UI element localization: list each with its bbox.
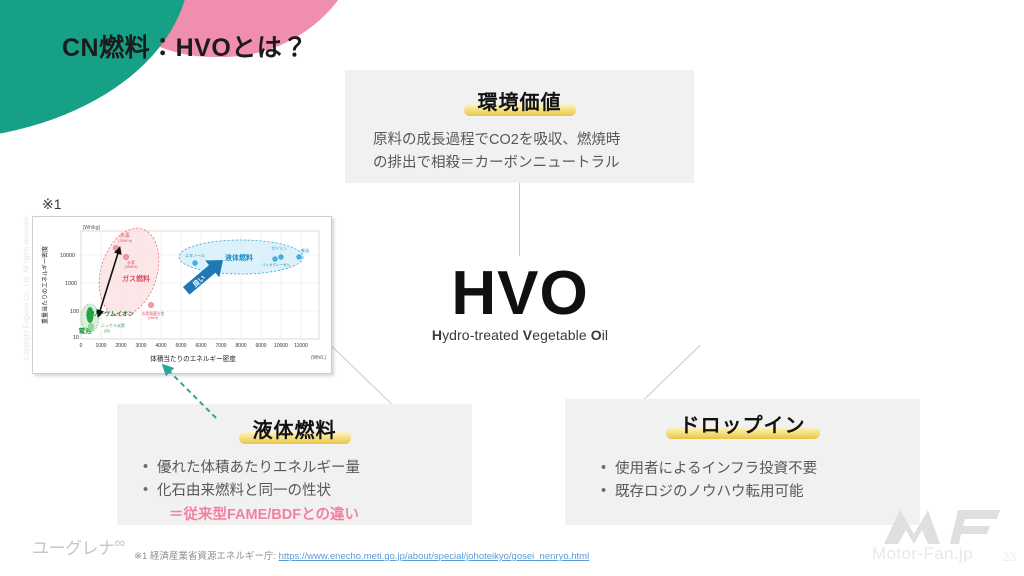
card-env-heading: 環境価値	[472, 86, 568, 117]
hvo-expansion-il: il	[602, 327, 608, 343]
figure-note-label: ※1	[42, 196, 62, 213]
svg-text:1000: 1000	[95, 343, 106, 349]
card-liquid-heading-wrap: 液体燃料	[117, 414, 472, 445]
svg-text:(35MPa): (35MPa)	[124, 265, 137, 269]
svg-text:7000: 7000	[215, 343, 226, 349]
page-number: 23	[1003, 550, 1016, 564]
hvo-expansion-v: V	[523, 327, 532, 343]
card-dropin-heading-text: ドロップイン	[680, 415, 806, 437]
svg-text:エタノール: エタノール	[185, 252, 205, 258]
card-env-heading-text: 環境価値	[478, 92, 562, 114]
svg-text:液体燃料: 液体燃料	[225, 253, 253, 262]
card-environmental-value: 環境価値 原料の成長過程でCO2を吸収、燃焼時 の排出で相殺＝カーボンニュートラ…	[345, 70, 694, 183]
card-liquid-accent-note: ＝従来型FAME/BDFとの違い	[141, 504, 460, 527]
euglena-logo: ユーグレナ∞	[32, 534, 125, 559]
svg-text:重量当たりのエネルギー密度: 重量当たりのエネルギー密度	[41, 246, 49, 324]
card-dropin-bullet-list: 使用者によるインフラ投資不要 既存ロジのノウハウ転用可能	[599, 458, 908, 505]
svg-text:バイオディーゼル: バイオディーゼル	[262, 262, 291, 267]
svg-text:体積当たりのエネルギー密度: 体積当たりのエネルギー密度	[150, 354, 236, 363]
card-env-heading-wrap: 環境価値	[345, 86, 694, 117]
svg-text:5000: 5000	[175, 343, 186, 349]
svg-text:(Wh/L): (Wh/L)	[311, 355, 326, 361]
connector-line-top	[519, 183, 520, 256]
card-env-body-line: 原料の成長過程でCO2を吸収、燃焼時	[373, 129, 676, 152]
list-item: 化石由来燃料と同一の性状	[141, 480, 460, 503]
hvo-expansion-egetable: egetable	[532, 327, 591, 343]
chart-svg: [Wh/kg] 10000 1000 100 10 重量当たりのエネルギー密度 …	[33, 217, 332, 374]
card-dropin-heading-wrap: ドロップイン	[565, 409, 920, 440]
svg-text:ニッケル水素: ニッケル水素	[101, 322, 125, 328]
card-liquid-body: 優れた体積あたりエネルギー量 化石由来燃料と同一の性状 ＝従来型FAME/BDF…	[141, 457, 460, 527]
svg-text:9000: 9000	[255, 343, 266, 349]
svg-text:ガソリン: ガソリン	[271, 245, 287, 251]
svg-text:10: 10	[73, 335, 79, 341]
card-dropin-heading: ドロップイン	[674, 409, 812, 440]
hvo-expansion-ydro: ydro-treated	[442, 327, 523, 343]
copyright-vertical-text: Copyright Euglena Co., Ltd. All rights r…	[24, 231, 31, 361]
energy-density-chart: [Wh/kg] 10000 1000 100 10 重量当たりのエネルギー密度 …	[32, 216, 332, 374]
svg-text:軽油: 軽油	[301, 247, 309, 253]
hvo-expansion-h: H	[432, 327, 442, 343]
svg-text:6000: 6000	[195, 343, 206, 349]
footnote-link[interactable]: https://www.enecho.meti.go.jp/about/spec…	[279, 551, 590, 562]
svg-text:(70MPa): (70MPa)	[118, 239, 132, 243]
title-underline-rule	[64, 74, 118, 80]
card-env-body-line: の排出で相殺＝カーボンニュートラル	[373, 152, 676, 175]
footnote-label: ※1 経済産業省資源エネルギー庁:	[134, 551, 279, 562]
svg-text:(2wt%): (2wt%)	[148, 316, 159, 320]
svg-text:2000: 2000	[115, 343, 126, 349]
svg-text:1000: 1000	[65, 281, 77, 287]
list-item: 使用者によるインフラ投資不要	[599, 458, 908, 481]
svg-text:3000: 3000	[135, 343, 146, 349]
card-liquid-fuel: 液体燃料 優れた体積あたりエネルギー量 化石由来燃料と同一の性状 ＝従来型FAM…	[117, 404, 472, 525]
svg-text:4000: 4000	[155, 343, 166, 349]
hvo-expansion-o: O	[591, 327, 602, 343]
decoration-green-shape	[0, 0, 190, 140]
svg-text:100: 100	[70, 309, 79, 315]
hvo-expansion: Hydro-treated Vegetable Oil	[380, 327, 660, 343]
slide-canvas: CN燃料：HVOとは？ 環境価値 原料の成長過程でCO2を吸収、燃焼時 の排出で…	[0, 0, 1024, 576]
svg-text:リチウムイオン: リチウムイオン	[92, 310, 134, 318]
list-item: 優れた体積あたりエネルギー量	[141, 457, 460, 480]
svg-text:[Wh/kg]: [Wh/kg]	[83, 225, 101, 231]
svg-text:10000: 10000	[274, 343, 288, 349]
page-title: CN燃料：HVOとは？	[62, 28, 308, 64]
infinity-icon: ∞	[115, 534, 125, 551]
list-item: 既存ロジのノウハウ転用可能	[599, 481, 908, 504]
svg-text:11000: 11000	[294, 343, 308, 349]
watermark-text: Motor-Fan.jp	[872, 544, 973, 564]
svg-text:0: 0	[80, 343, 83, 349]
footnote-source: ※1 経済産業省資源エネルギー庁: https://www.enecho.met…	[134, 548, 589, 562]
card-env-body: 原料の成長過程でCO2を吸収、燃焼時 の排出で相殺＝カーボンニュートラル	[373, 129, 676, 176]
card-dropin-body: 使用者によるインフラ投資不要 既存ロジのノウハウ転用可能	[599, 458, 908, 505]
svg-text:8000: 8000	[235, 343, 246, 349]
card-liquid-bullet-list: 優れた体積あたりエネルギー量 化石由来燃料と同一の性状	[141, 457, 460, 504]
hvo-acronym: HVO	[380, 262, 660, 325]
logo-text: ユーグレナ	[32, 539, 115, 558]
card-liquid-heading-text: 液体燃料	[253, 420, 337, 442]
svg-text:10000: 10000	[60, 253, 75, 259]
svg-text:ガス燃料: ガス燃料	[122, 274, 150, 283]
hvo-centerpiece: HVO Hydro-treated Vegetable Oil	[380, 262, 660, 343]
card-drop-in: ドロップイン 使用者によるインフラ投資不要 既存ロジのノウハウ転用可能	[565, 399, 920, 525]
card-liquid-heading: 液体燃料	[247, 414, 343, 445]
svg-text:(肉): (肉)	[104, 328, 110, 333]
svg-text:水素: 水素	[120, 232, 130, 239]
